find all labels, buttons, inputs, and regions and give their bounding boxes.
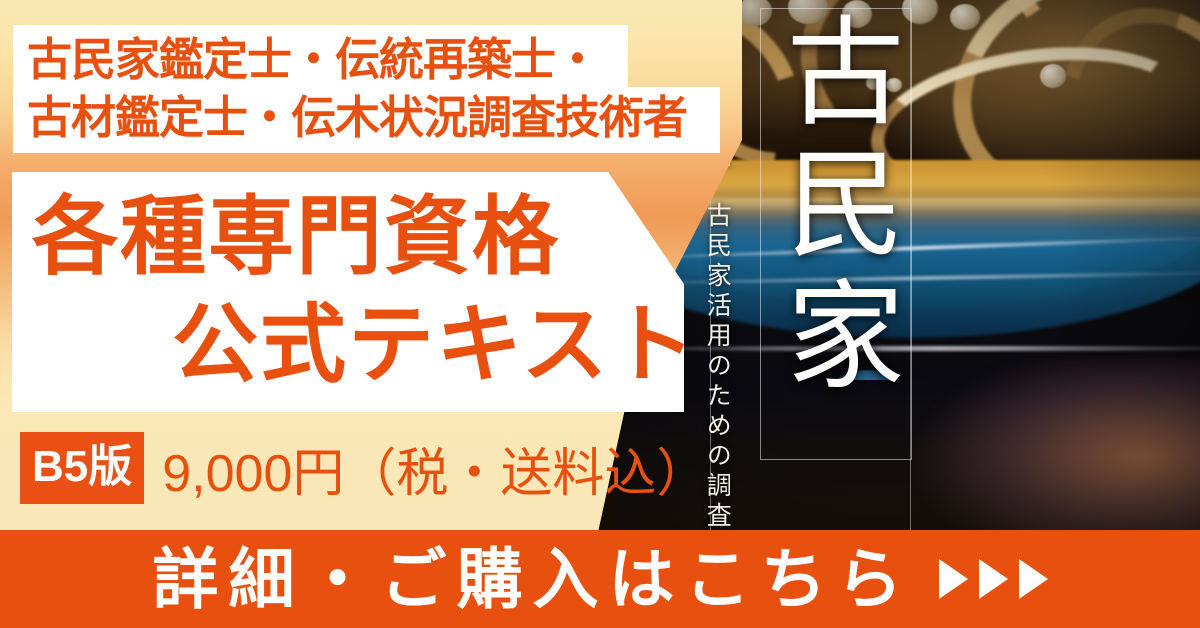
headline-block: 各種専門資格 公式テキスト bbox=[12, 172, 684, 412]
qualifications-line-1: 古民家鑑定士・伝統再築士・ bbox=[27, 37, 599, 82]
play-arrow-icon bbox=[939, 559, 968, 599]
cover-title: 古民家 bbox=[765, 10, 905, 406]
headline-line-1: 各種専門資格 bbox=[32, 194, 560, 280]
play-arrow-icon bbox=[979, 559, 1008, 599]
headline-line-2: 公式テキスト bbox=[172, 302, 697, 388]
price-text: 9,000円（税・送料込） bbox=[162, 431, 708, 506]
cta-label: 詳細・ご購入はこちら bbox=[153, 546, 913, 612]
price-row: B5版 9,000円（税・送料込） bbox=[20, 432, 708, 504]
format-badge: B5版 bbox=[20, 432, 144, 504]
promo-banner: 古民家 伝統構法 古民家活用のための調査と再生の 古民家鑑定士・伝統再築士・ 古… bbox=[0, 0, 1200, 628]
cta-button[interactable]: 詳細・ご購入はこちら bbox=[0, 530, 1200, 628]
arrow-group bbox=[939, 559, 1048, 599]
qualifications-block: 古民家鑑定士・伝統再築士・ 古材鑑定士・伝木状況調査技術者 bbox=[13, 25, 720, 153]
qualifications-line-2: 古材鑑定士・伝木状況調査技術者 bbox=[27, 95, 687, 140]
play-arrow-icon bbox=[1019, 559, 1048, 599]
